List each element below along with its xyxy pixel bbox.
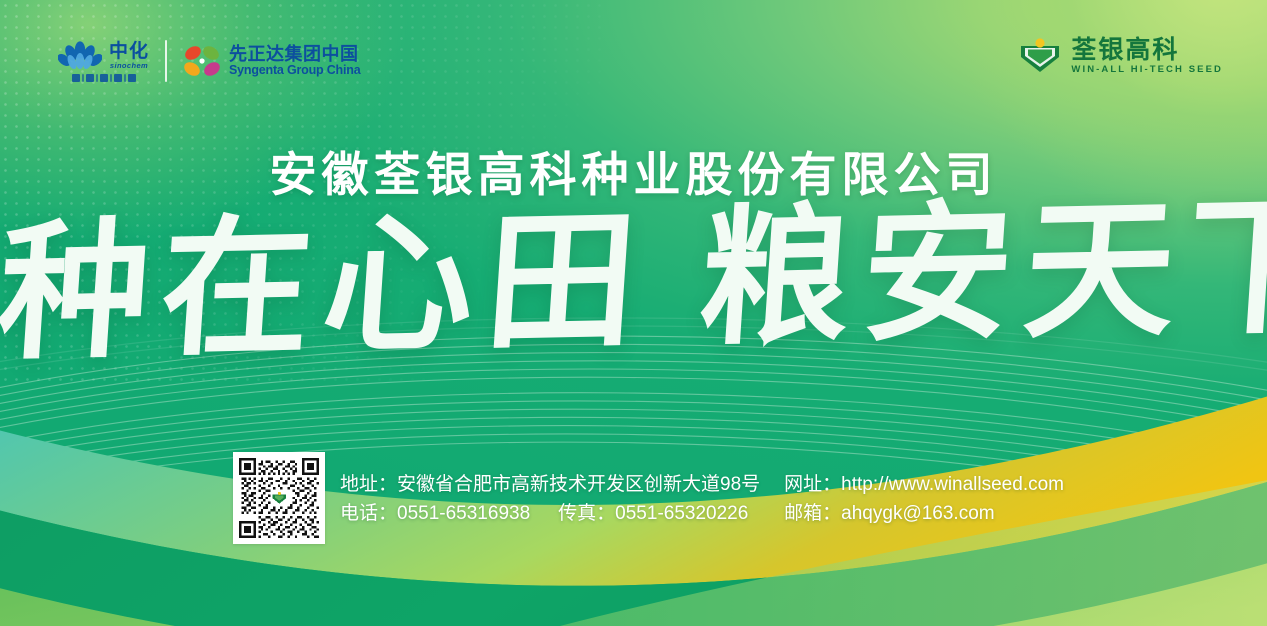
fax-label: 传真： <box>558 499 615 528</box>
slogan-gap <box>645 331 697 332</box>
website-label: 网址： <box>784 470 841 499</box>
contact-info: 地址： 安徽省合肥市高新技术开发区创新大道98号 电话： 0551-653169… <box>340 470 1064 529</box>
qr-code[interactable] <box>233 452 325 544</box>
slogan: 种在心田粮安天下 <box>0 192 1267 369</box>
sinochem-cn-name: 中化 <box>109 42 149 61</box>
winall-logo[interactable]: 荃银高科 WIN-ALL HI-TECH SEED <box>1019 36 1223 76</box>
address-label: 地址： <box>340 470 397 499</box>
sinochem-logo[interactable]: 中化 sinochem <box>58 41 149 82</box>
lotus-mark-icon <box>58 41 102 71</box>
winall-sprout-icon <box>1019 36 1061 76</box>
slogan-right: 粮安天下 <box>694 177 1267 367</box>
email-line[interactable]: 邮箱： ahqygk@163.com <box>784 499 1064 528</box>
syngenta-cn-name: 先正达集团中国 <box>229 45 360 64</box>
sinochem-en-name: sinochem <box>110 62 148 70</box>
winall-cn-name: 荃银高科 <box>1071 37 1223 63</box>
slogan-left: 种在心田 <box>0 192 654 382</box>
logo-divider <box>165 40 167 82</box>
sinochem-tagline-marks <box>72 74 136 82</box>
fax-value: 0551-65320226 <box>615 499 748 528</box>
qr-code-icon <box>239 458 319 538</box>
phone-fax-line: 电话： 0551-65316938 传真： 0551-65320226 <box>340 499 760 528</box>
syngenta-en-name: Syngenta Group China <box>229 64 360 77</box>
website-value[interactable]: http://www.winallseed.com <box>841 470 1064 499</box>
phone-fax-spacer <box>530 499 558 528</box>
syngenta-logo[interactable]: 先正达集团中国 Syngenta Group China <box>183 44 360 78</box>
address-value: 安徽省合肥市高新技术开发区创新大道98号 <box>397 470 760 499</box>
syngenta-flower-icon <box>183 44 221 78</box>
contact-left-column: 地址： 安徽省合肥市高新技术开发区创新大道98号 电话： 0551-653169… <box>340 470 760 529</box>
website-line[interactable]: 网址： http://www.winallseed.com <box>784 470 1064 499</box>
contact-right-column: 网址： http://www.winallseed.com 邮箱： ahqygk… <box>784 470 1064 529</box>
email-label: 邮箱： <box>784 499 841 528</box>
phone-value: 0551-65316938 <box>397 499 530 528</box>
email-value[interactable]: ahqygk@163.com <box>841 499 994 528</box>
winall-en-name: WIN-ALL HI-TECH SEED <box>1071 65 1223 75</box>
phone-label: 电话： <box>340 499 397 528</box>
address-line: 地址： 安徽省合肥市高新技术开发区创新大道98号 <box>340 470 760 499</box>
partner-logos: 中化 sinochem 先正达集团中国 Syngenta Group China <box>58 36 360 86</box>
banner-canvas: 中化 sinochem 先正达集团中国 Syngenta Group China <box>0 0 1267 626</box>
